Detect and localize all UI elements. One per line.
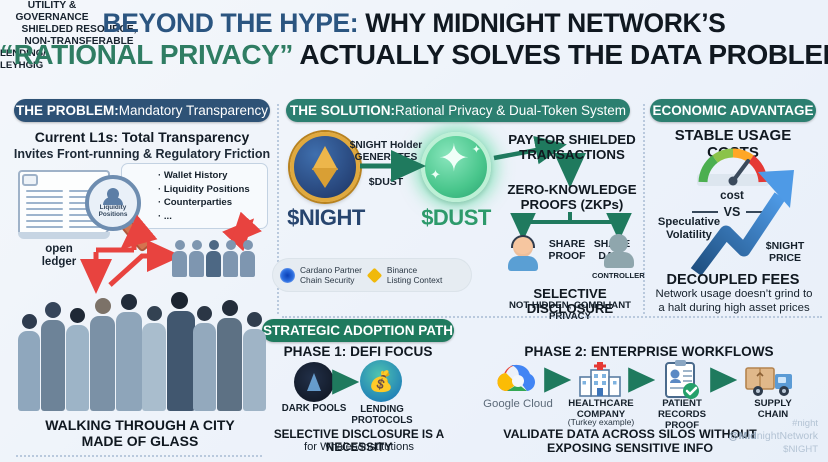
headline-line2-rest: ACTUALLY SOLVES THE DATA PROBLEM xyxy=(293,39,828,70)
section-divider-left-bottom xyxy=(16,455,262,457)
decoupled-fees-subtitle: Network usage doesn’t grind to a halt du… xyxy=(644,288,824,315)
banner-problem-rest: Mandatory Transparency xyxy=(119,103,268,118)
banner-solution-bold: THE SOLUTION: xyxy=(290,103,395,118)
dark-pools-label: DARK POOLS xyxy=(274,404,354,415)
banner-economic-label: ECONOMIC ADVANTAGE xyxy=(653,103,814,118)
banner-path-label: STRATEGIC ADOPTION PATH xyxy=(263,323,453,338)
phase2-title: PHASE 2: ENTERPRISE WORKFLOWS xyxy=(486,344,812,359)
banner-the-solution: THE SOLUTION:Rational Privacy & Dual-Tok… xyxy=(286,99,630,122)
watermark-ticker: $NIGHT xyxy=(728,444,818,456)
phase1-arrow-1 xyxy=(336,374,362,390)
partner-cardano-label: Cardano Partner Chain Security xyxy=(300,265,362,286)
page-title: BEYOND THE HYPE: WHY MIDNIGHT NETWORK’S … xyxy=(0,10,828,69)
lending-protocols-label: LENDING PROTOCOLS xyxy=(350,404,414,426)
cost-gauge-icon xyxy=(697,148,769,188)
crowd-illustration xyxy=(18,285,266,410)
ethereum-diamond-glyph xyxy=(312,146,338,188)
night-token-name: $NIGHT xyxy=(278,205,374,231)
body-glyph xyxy=(604,252,634,268)
selective-disclosure-subtitle: NOT HIDDEN, COMPLIANT PRIVACY xyxy=(492,301,648,322)
controller-label: CONTROLLER xyxy=(592,272,644,281)
watermark-tag: #night xyxy=(728,418,818,430)
headline-line2-accent: “RATIONAL PRIVACY” xyxy=(0,39,293,70)
head-glyph xyxy=(609,234,628,253)
google-cloud-icon xyxy=(491,362,545,396)
person-glyph xyxy=(107,188,119,200)
open-ledger-label: open ledger xyxy=(24,243,94,269)
infographic-canvas: BEYOND THE HYPE: WHY MIDNIGHT NETWORK’S … xyxy=(0,0,828,462)
dust-token-name: $DUST xyxy=(408,205,504,231)
lending-protocols-icon: 💰 xyxy=(360,360,402,402)
watermark: #night @MidnightNetwork $NIGHT xyxy=(728,418,818,456)
list-item: · Counterparties xyxy=(158,196,263,210)
share-proof-label: SHARE PROOF xyxy=(542,239,592,264)
problem-footer: WALKING THROUGH A CITY MADE OF GLASS xyxy=(12,418,268,449)
patient-records-clipboard-icon xyxy=(664,360,700,400)
healthcare-hospital-icon xyxy=(578,362,622,398)
column-divider-right xyxy=(643,104,645,314)
problem-subheading: Invites Front-running & Regulatory Frict… xyxy=(10,147,274,161)
binance-icon xyxy=(367,268,382,283)
exposed-data-list: · Wallet History · Liquidity Positions ·… xyxy=(121,163,268,229)
watermark-handle: @MidnightNetwork xyxy=(728,430,818,444)
list-item: · ... xyxy=(158,210,263,224)
generates-dust-label: $DUST xyxy=(350,177,422,189)
zero-knowledge-proofs-label: ZERO-KNOWLEDGE PROOFS (ZKPs) xyxy=(502,183,642,212)
banner-strategic-adoption-path: STRATEGIC ADOPTION PATH xyxy=(262,319,454,342)
list-item: · Liquidity Positions xyxy=(158,183,263,197)
cost-label: cost xyxy=(700,190,764,203)
observers-group-icon xyxy=(172,235,260,277)
ledger-base xyxy=(18,232,110,239)
banner-problem-bold: THE PROBLEM: xyxy=(16,103,119,118)
pay-shielded-transactions-label: PAY FOR SHIELDED TRANSACTIONS xyxy=(502,133,642,162)
problem-heading: Current L1s: Total Transparency xyxy=(14,130,270,146)
supply-chain-truck-icon xyxy=(744,362,800,398)
sparkle-glyph: ✦ ✦ xyxy=(436,147,476,187)
decoupled-fees-title: DECOUPLED FEES xyxy=(650,272,816,288)
phase1-title: PHASE 1: DEFI FOCUS xyxy=(256,344,460,359)
partners-strip: Cardano Partner Chain Security Binance L… xyxy=(272,258,472,292)
night-price-label: $NIGHT PRICE xyxy=(756,240,814,264)
headline-line1-accent: BEYOND THE HYPE: xyxy=(103,8,359,38)
google-cloud-label: Google Cloud xyxy=(472,398,564,411)
cardano-icon xyxy=(280,268,295,283)
generates-label: $NIGHT Holder GENERATES xyxy=(344,140,428,163)
body-glyph xyxy=(508,256,538,271)
banner-economic-advantage: ECONOMIC ADVANTAGE xyxy=(650,99,816,122)
dust-token-coin-icon: ✦ ✦ xyxy=(421,132,491,202)
magnifier-label: Liquidity Positions xyxy=(99,205,128,218)
user-person-icon xyxy=(506,237,540,271)
dark-pools-icon xyxy=(294,362,334,402)
banner-solution-rest: Rational Privacy & Dual-Token System xyxy=(395,103,626,118)
head-glyph xyxy=(513,237,533,257)
ledger-fold xyxy=(22,174,38,186)
controller-person-icon xyxy=(602,234,636,272)
phase2-arrow-3 xyxy=(712,372,742,388)
phase1-footer-line2: for Whales/Institutions xyxy=(250,441,468,454)
phase2-arrow-1 xyxy=(546,372,576,388)
magnifier-icon: Liquidity Positions xyxy=(85,175,141,231)
partner-binance-label: Binance Listing Context xyxy=(387,265,442,286)
banner-the-problem: THE PROBLEM:Mandatory Transparency xyxy=(14,99,270,122)
phase2-arrow-2 xyxy=(630,372,660,388)
list-item: · Wallet History xyxy=(158,169,263,183)
droplet-glyph xyxy=(307,373,321,391)
speculative-volatility-label: Speculative Volatility xyxy=(650,216,728,242)
headline-line1-rest: WHY MIDNIGHT NETWORK’S xyxy=(358,8,725,38)
